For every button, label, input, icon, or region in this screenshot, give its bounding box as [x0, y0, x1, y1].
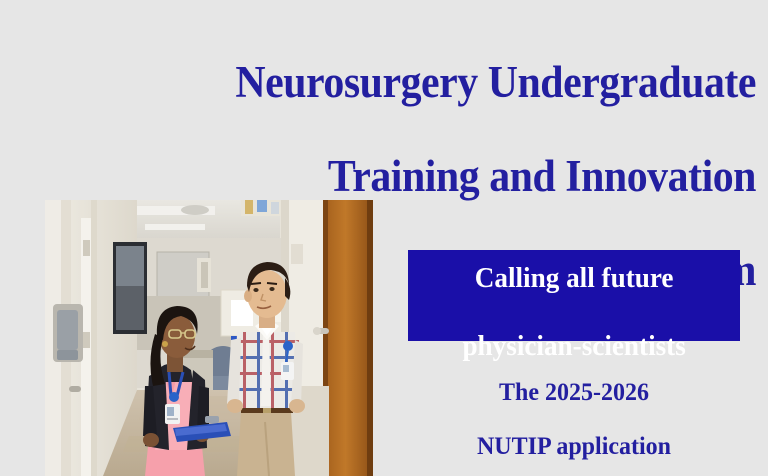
callout-banner: Calling all future physician-scientists — [408, 250, 740, 341]
callout-text: Calling all future physician-scientists — [462, 228, 685, 364]
callout-line-1: Calling all future — [475, 263, 674, 294]
page-title-line-2: Training and Innovation — [72, 153, 756, 200]
poster-canvas: Neurosurgery Undergraduate Training and … — [0, 0, 768, 476]
subcopy-line-2: NUTIP application — [477, 433, 671, 460]
subcopy-line-1: The 2025-2026 — [499, 379, 649, 406]
page-title-line-1: Neurosurgery Undergraduate — [72, 59, 756, 106]
hero-photo-illustration — [45, 200, 373, 476]
subcopy-text: The 2025-2026 NUTIP application is open! — [415, 352, 734, 476]
hero-photo — [45, 200, 373, 476]
